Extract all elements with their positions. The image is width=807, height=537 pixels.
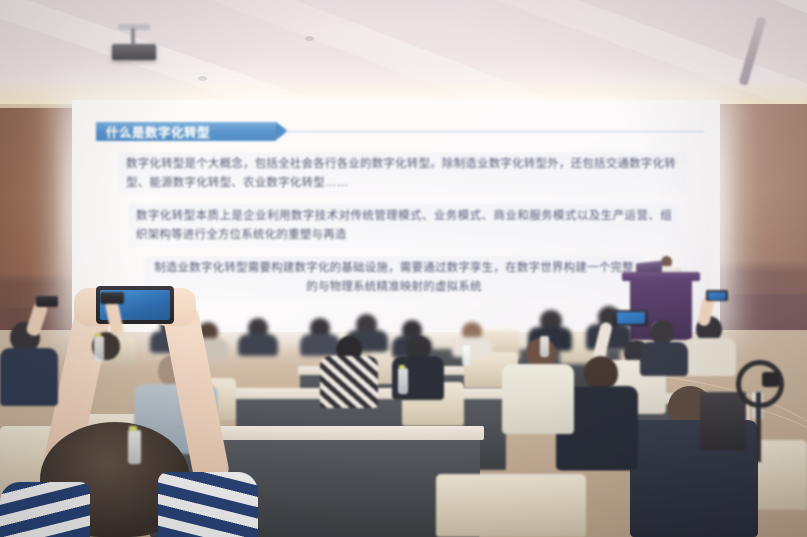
phone-icon: [36, 296, 58, 307]
slide-paragraph-2: 数字化转型本质上是企业利用数字技术对传统管理模式、业务模式、商业和服务模式以及生…: [128, 204, 680, 248]
phone-icon: [100, 292, 124, 304]
projector-icon: [112, 44, 156, 60]
monitor-icon: [700, 392, 746, 450]
ceiling-spotlight-icon: [198, 76, 207, 81]
conference-photo: 什么是数字化转型 数字化转型是个大概念，包括全社会各行各业的数字化转型。除制造业…: [0, 0, 807, 537]
slide-title-banner: 什么是数字化转型: [96, 122, 276, 141]
camera-icon: [762, 372, 779, 387]
slide-paragraph-1: 数字化转型是个大概念，包括全社会各行各业的数字化转型。除制造业数字化转型外，还包…: [118, 152, 688, 196]
title-divider: [284, 131, 704, 132]
ceiling-spotlight-icon: [305, 36, 314, 41]
slide-paragraph-3: 制造业数字化转型需要构建数字化的基础设施，需要通过数字孪生，在数字世界构建一个完…: [144, 256, 644, 300]
slide-title: 什么是数字化转型: [106, 122, 210, 141]
